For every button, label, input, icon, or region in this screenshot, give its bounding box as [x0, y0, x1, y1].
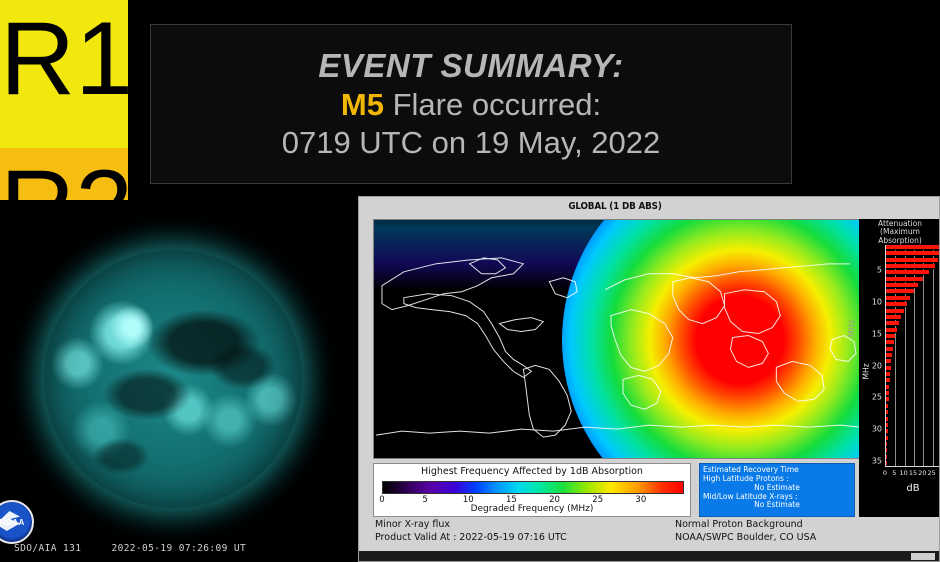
panel-footer-bar: [359, 551, 939, 561]
proton-background-status: Normal Proton Background: [675, 519, 816, 532]
attenuation-bar: [886, 410, 888, 415]
corner-marker: [911, 553, 935, 560]
attenuation-bar: [886, 359, 891, 364]
attenuation-bar-chart: Attenuation (Maximum Absorption) MHz 510…: [859, 219, 940, 517]
attenuation-bar: [886, 328, 897, 333]
attenuation-gridline: [923, 245, 924, 466]
attenuation-x-tick: 5: [892, 469, 896, 477]
sdo-instrument-label: SDO/AIA: [14, 543, 57, 554]
attenuation-x-tick: 0: [883, 469, 887, 477]
status-left: Minor X-ray flux Product Valid At : 2022…: [375, 519, 567, 545]
attenuation-gridline: [933, 245, 934, 466]
attenuation-bar: [886, 309, 904, 314]
attenuation-bar: [886, 264, 935, 269]
sdo-solar-image: NOAA SDO/AIA 131 2022-05-19 07:26:09 UT: [0, 200, 352, 562]
attenuation-bar: [886, 436, 888, 441]
event-summary-screen: R1 R2 EVENT SUMMARY: M5 Flare occurred: …: [0, 0, 940, 562]
attenuation-bar: [886, 315, 901, 320]
event-summary-flare-line: M5 Flare occurred:: [341, 87, 601, 123]
attenuation-bar: [886, 455, 887, 460]
attenuation-y-ticks: 5101520253035: [861, 241, 883, 471]
attenuation-bar: [886, 429, 888, 434]
attenuation-bar: [886, 277, 923, 282]
attenuation-bar: [886, 378, 890, 383]
event-summary-panel: EVENT SUMMARY: M5 Flare occurred: 0719 U…: [150, 24, 792, 184]
attenuation-y-tick: 15: [872, 329, 882, 338]
agency-attribution: NOAA/SWPC Boulder, CO USA: [675, 532, 816, 545]
attenuation-x-tick: 10: [900, 469, 908, 477]
event-summary-heading: EVENT SUMMARY:: [318, 47, 623, 85]
attenuation-bar: [886, 461, 887, 466]
xray-flux-status: Minor X-ray flux: [375, 519, 567, 532]
radio-blackout-scale-r1: R1: [0, 0, 128, 148]
noaa-logo: NOAA: [0, 500, 34, 544]
attenuation-bar: [886, 251, 940, 256]
attenuation-x-ticks: 0510152025: [885, 469, 940, 481]
map-mhz-label: MHz: [847, 320, 856, 337]
attenuation-bar: [886, 334, 895, 339]
r1-label: R1: [0, 1, 133, 117]
event-summary-time: 0719 UTC on 19 May, 2022: [282, 125, 661, 161]
flare-occurred-text: Flare occurred:: [384, 87, 601, 122]
status-right: Normal Proton Background NOAA/SWPC Bould…: [675, 519, 816, 545]
attenuation-bar: [886, 417, 888, 422]
attenuation-bar: [886, 245, 940, 250]
attenuation-bar: [886, 296, 910, 301]
attenuation-bar: [886, 372, 890, 377]
colorbar-gradient: [382, 481, 684, 494]
attenuation-bar: [886, 391, 889, 396]
attenuation-x-tick: 20: [918, 469, 926, 477]
attenuation-bar: [886, 442, 887, 447]
colorbar-title: Highest Frequency Affected by 1dB Absorp…: [374, 466, 690, 477]
attenuation-x-tick: 25: [928, 469, 936, 477]
colorbar-axis-label: Degraded Frequency (MHz): [374, 504, 690, 514]
attenuation-bar: [886, 448, 887, 453]
attenuation-bar: [886, 385, 889, 390]
attenuation-y-tick: 35: [872, 457, 882, 466]
solar-filament-texture: [44, 250, 302, 508]
sdo-channel-label: 131: [63, 543, 81, 554]
attenuation-bar: [886, 423, 888, 428]
attenuation-y-tick: 25: [872, 393, 882, 402]
attenuation-bar: [886, 302, 907, 307]
attenuation-bar: [886, 258, 938, 263]
drap-global-absorption-panel: GLOBAL (1 DB ABS): [358, 196, 940, 562]
flare-class-badge: M5: [341, 87, 384, 122]
noaa-logo-label: NOAA: [0, 518, 25, 527]
map-canvas: [374, 220, 862, 458]
attenuation-y-tick: 10: [872, 298, 882, 307]
attenuation-bar: [886, 270, 929, 275]
attenuation-plot-area: [885, 245, 940, 467]
estimated-recovery-time-box: Estimated Recovery Time High Latitude Pr…: [699, 463, 855, 517]
product-valid-time: Product Valid At : 2022-05-19 07:16 UTC: [375, 532, 567, 545]
attenuation-y-tick: 20: [872, 361, 882, 370]
recovery-xrays-value: No Estimate: [703, 501, 851, 510]
attenuation-bar: [886, 321, 899, 326]
drap-title: GLOBAL (1 DB ABS): [390, 201, 841, 212]
attenuation-y-tick: 5: [877, 266, 882, 275]
attenuation-bar: [886, 283, 918, 288]
attenuation-bar: [886, 404, 888, 409]
attenuation-bar: [886, 353, 892, 358]
attenuation-bar: [886, 397, 889, 402]
attenuation-bar: [886, 289, 914, 294]
coastline-overlay: [374, 220, 862, 459]
attenuation-bar: [886, 366, 891, 371]
attenuation-bar: [886, 347, 893, 352]
sdo-timestamp: 2022-05-19 07:26:09 UT: [111, 543, 246, 554]
attenuation-y-tick: 30: [872, 425, 882, 434]
attenuation-x-tick: 15: [909, 469, 917, 477]
sdo-caption: SDO/AIA 131 2022-05-19 07:26:09 UT: [14, 543, 246, 554]
global-absorption-map: MHz: [373, 219, 863, 459]
attenuation-bar: [886, 340, 894, 345]
frequency-colorbar-legend: Highest Frequency Affected by 1dB Absorp…: [373, 463, 691, 517]
attenuation-x-axis-title: dB: [885, 483, 940, 494]
